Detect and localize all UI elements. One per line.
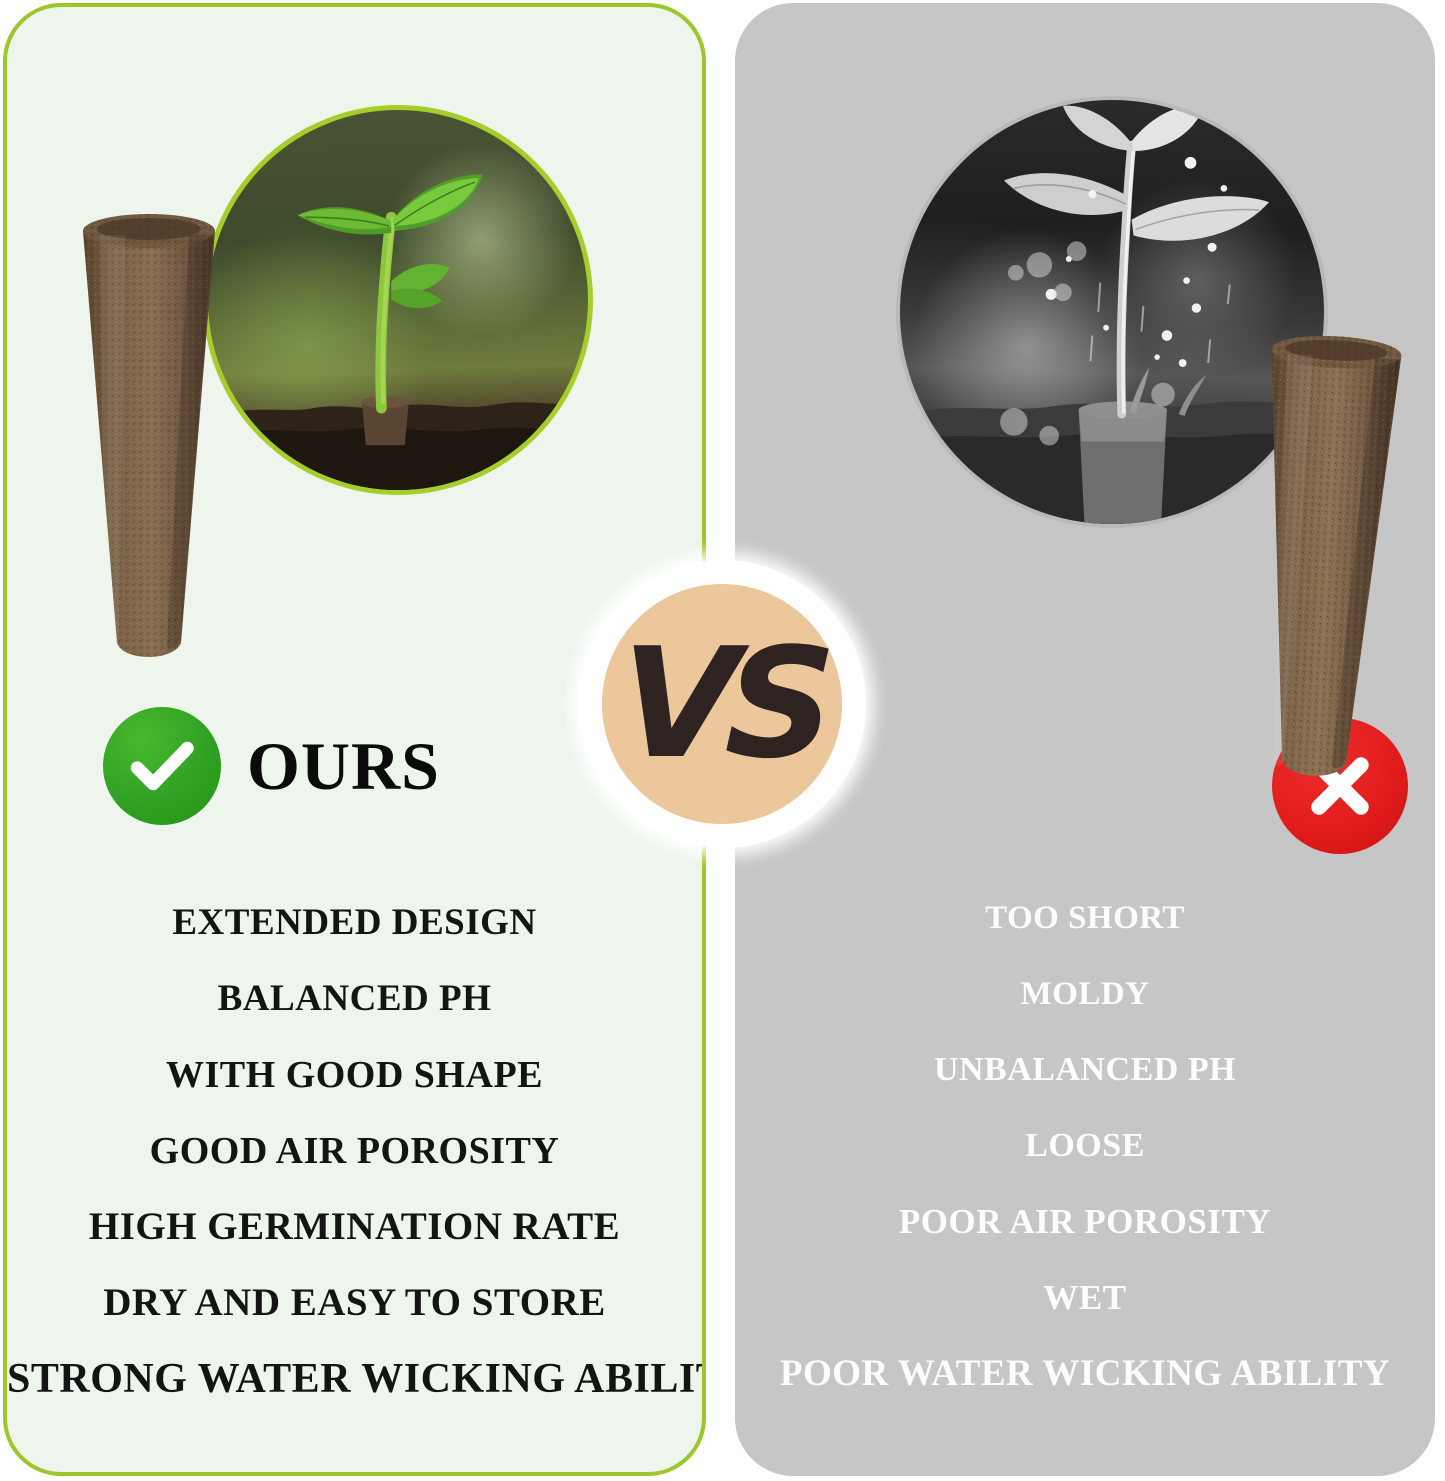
list-item: MOLDY: [736, 956, 1434, 1032]
list-item: WET: [736, 1260, 1434, 1336]
ours-title-label: OURS: [247, 732, 440, 800]
list-item: UNBALANCED PH: [736, 1032, 1434, 1108]
list-item: POOR AIR POROSITY: [736, 1184, 1434, 1260]
comparison-infographic: OURS EXTENDED DESIGN BALANCED PH WITH GO…: [0, 0, 1445, 1481]
list-item: WITH GOOD SHAPE: [7, 1037, 702, 1113]
vs-badge-inner: VS: [602, 584, 842, 824]
list-item: POOR WATER WICKING ABILITY: [736, 1336, 1434, 1412]
list-item: DRY AND EASY TO STORE: [7, 1265, 702, 1341]
soil-pod-tall-icon: [69, 205, 229, 657]
ours-feature-list: EXTENDED DESIGN BALANCED PH WITH GOOD SH…: [7, 885, 702, 1417]
list-item: BALANCED PH: [7, 961, 702, 1037]
soil-pod-short-icon: [1245, 328, 1405, 776]
list-item: HIGH GERMINATION RATE: [7, 1189, 702, 1265]
list-item: EXTENDED DESIGN: [7, 885, 702, 961]
check-circle-icon: [103, 707, 221, 825]
list-item: TOO SHORT: [736, 880, 1434, 956]
others-feature-list: TOO SHORT MOLDY UNBALANCED PH LOOSE POOR…: [736, 880, 1434, 1412]
list-item: STRONG WATER WICKING ABILITY: [7, 1341, 702, 1417]
ours-title-row: OURS: [103, 707, 440, 825]
list-item: GOOD AIR POROSITY: [7, 1113, 702, 1189]
vs-badge-icon: VS: [578, 560, 866, 848]
vs-label: VS: [618, 628, 826, 780]
seedling-color-photo: [203, 105, 593, 495]
list-item: LOOSE: [736, 1108, 1434, 1184]
